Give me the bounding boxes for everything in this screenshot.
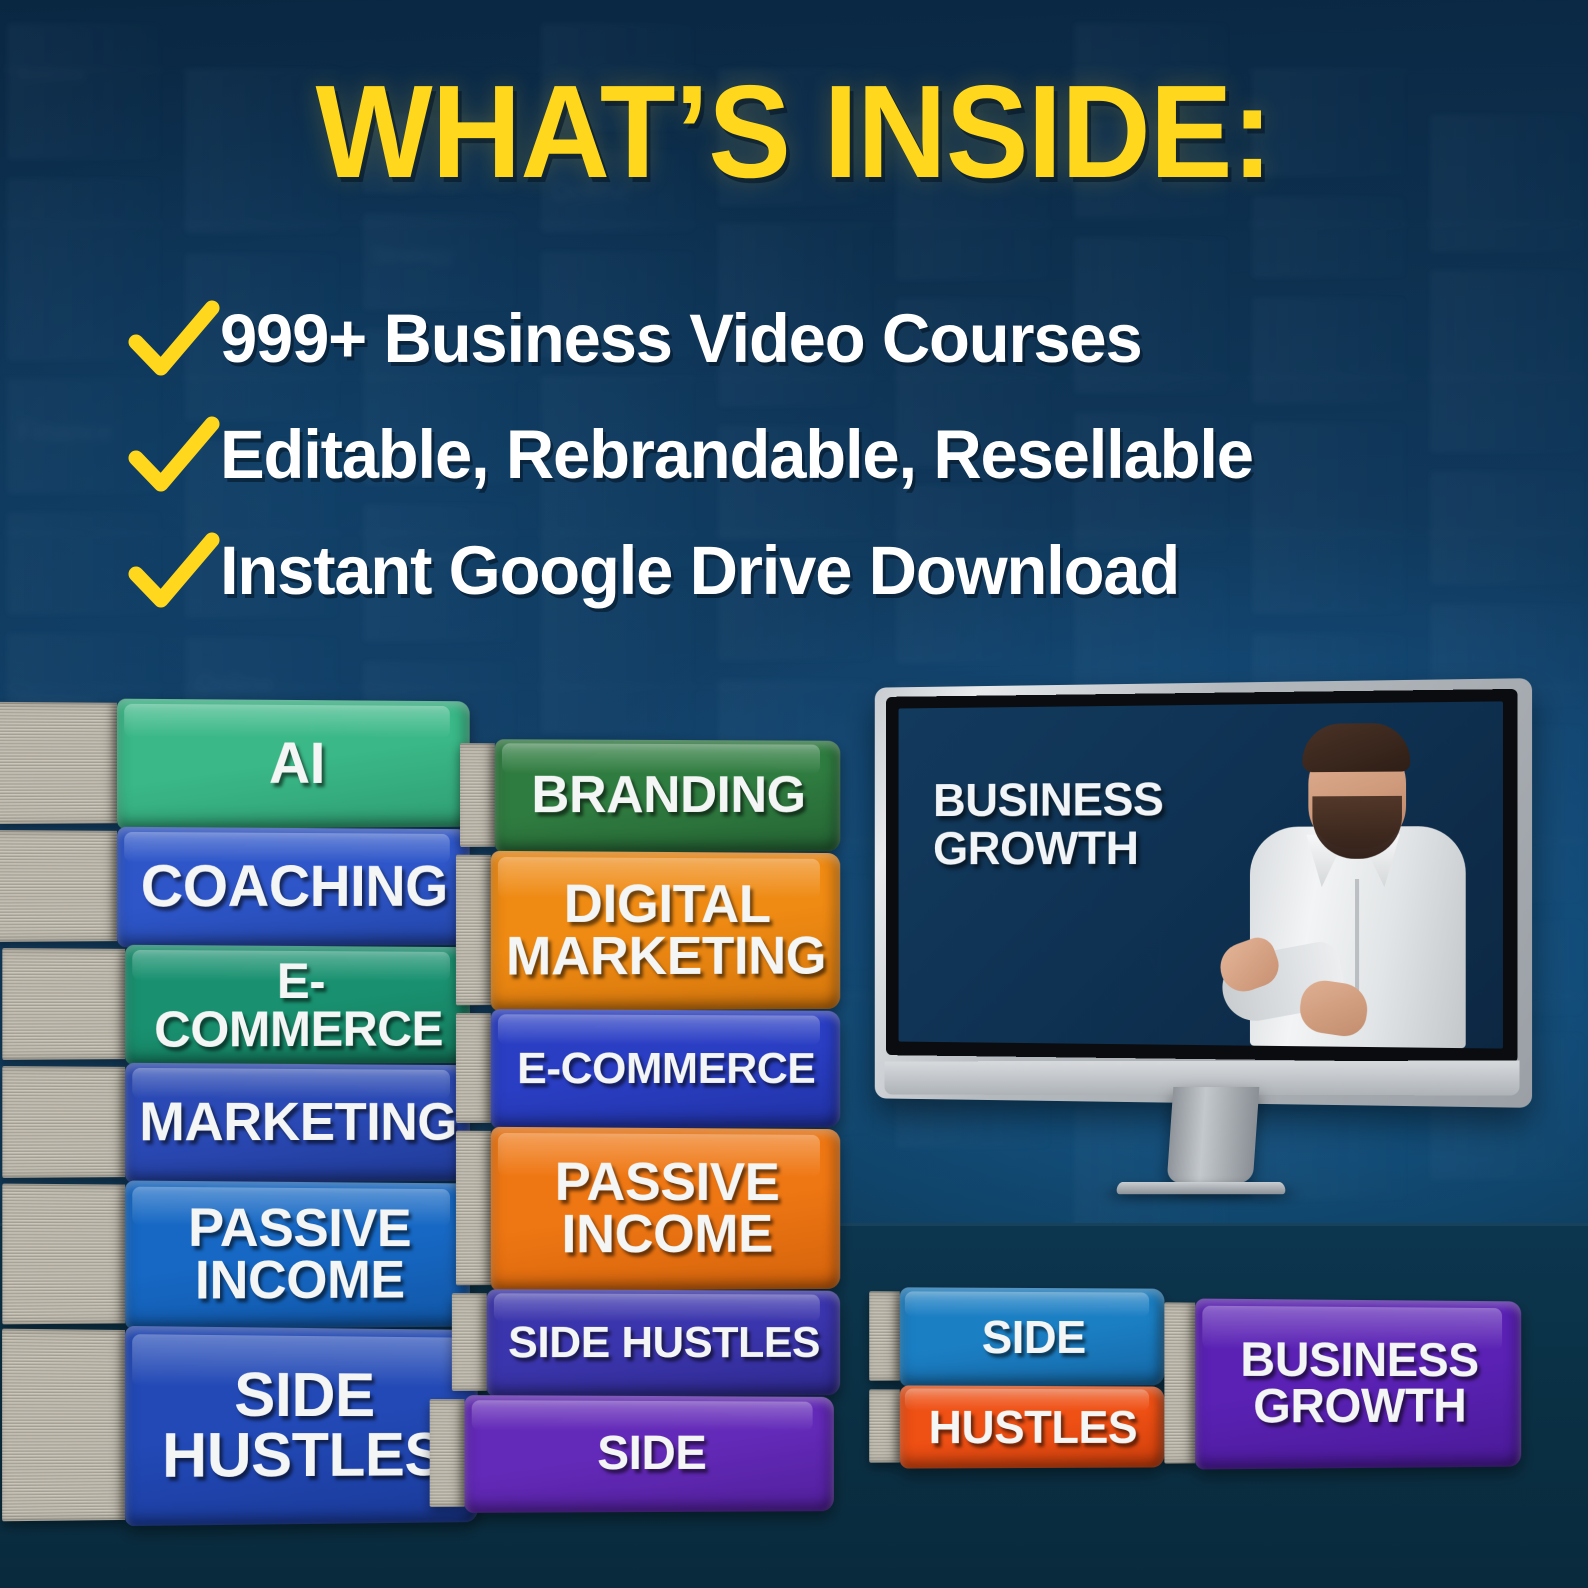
book-page-edge (456, 1013, 491, 1123)
check-icon (128, 292, 220, 384)
book-passive-income: PASSIVE INCOME (491, 1127, 840, 1291)
page-title: WHAT’S INSIDE: (316, 66, 1272, 198)
book-passive-income: PASSIVE INCOME (125, 1180, 470, 1329)
check-icon (128, 524, 220, 616)
check-icon (128, 408, 220, 500)
book-side: SIDE (900, 1287, 1165, 1386)
book-side: SIDE (465, 1395, 834, 1513)
feature-list: 999+ Business Video Courses Editable, Re… (128, 280, 1518, 628)
book-side-hustles: SIDE HUSTLES (487, 1289, 840, 1397)
list-item: Editable, Rebrandable, Resellable (128, 396, 1518, 512)
book-title: SIDE HUSTLES (498, 1322, 830, 1365)
backdrop-text: Strategy (373, 244, 453, 268)
book-e-commerce: E-COMMERCE (491, 1009, 840, 1129)
book-title: BUSINESS GROWTH (1230, 1337, 1488, 1430)
book-marketing: MARKETING (125, 1063, 470, 1183)
list-item: Instant Google Drive Download (128, 512, 1518, 628)
book-page-edge (869, 1291, 900, 1381)
book-page-edge (430, 1399, 465, 1507)
book-title: AI (259, 736, 335, 792)
book-page-edge (460, 743, 495, 847)
book-page-edge (869, 1389, 900, 1462)
poster-canvas: BusinessFinanceStrategySales CourseSucce… (0, 0, 1588, 1588)
book-title: SIDE HUSTLES (152, 1365, 453, 1486)
book-page-edge (1164, 1302, 1195, 1463)
monitor: BUSINESS GROWTH (866, 683, 1526, 1103)
book-title: E-COMMERCE (507, 1048, 825, 1091)
book-title: SIDE (972, 1315, 1096, 1359)
book-side-hustles: SIDE HUSTLES (125, 1326, 478, 1526)
book-title: DIGITAL MARKETING (496, 878, 836, 983)
monitor-stand-neck (1166, 1087, 1259, 1183)
list-item-label: Instant Google Drive Download (220, 536, 1179, 605)
book-hustles: HUSTLES (900, 1385, 1165, 1468)
backdrop-text: Online (195, 668, 273, 699)
backdrop-text: Finance (17, 416, 112, 447)
book-ai: AI (117, 699, 470, 830)
presenter-hair (1302, 723, 1410, 772)
book-page-edge (2, 948, 125, 1060)
book-coaching: COACHING (117, 827, 470, 947)
presenter-figure (1222, 712, 1497, 1049)
list-item-label: Editable, Rebrandable, Resellable (220, 420, 1253, 489)
monitor-frame: BUSINESS GROWTH (886, 689, 1517, 1063)
book-digital-marketing: DIGITAL MARKETING (491, 851, 840, 1011)
book-page-edge (2, 1184, 125, 1325)
book-branding: BRANDING (495, 739, 840, 853)
book-e-commerce: E-COMMERCE (125, 945, 470, 1065)
monitor-stand-base (1115, 1182, 1286, 1194)
shelf-divider (0, 223, 1588, 225)
book-title: PASSIVE INCOME (544, 1157, 789, 1262)
book-title: COACHING (130, 859, 457, 916)
book-title: PASSIVE INCOME (178, 1202, 421, 1307)
backdrop-book (1252, 196, 1406, 279)
book-page-edge (452, 1293, 487, 1391)
book-page-edge (2, 1329, 125, 1522)
book-title: SIDE (587, 1431, 716, 1477)
book-page-edge (0, 702, 117, 824)
book-page-edge (456, 1131, 491, 1286)
screen-title: BUSINESS GROWTH (933, 775, 1163, 873)
book-title: E-COMMERCE (125, 956, 470, 1054)
list-item-label: 999+ Business Video Courses (220, 304, 1142, 373)
book-title: MARKETING (129, 1097, 466, 1150)
monitor-screen: BUSINESS GROWTH (899, 701, 1503, 1048)
book-business-growth: BUSINESS GROWTH (1195, 1299, 1521, 1470)
book-page-edge (0, 830, 117, 942)
list-item: 999+ Business Video Courses (128, 280, 1518, 396)
book-title: HUSTLES (918, 1405, 1146, 1450)
book-page-edge (456, 855, 491, 1006)
book-title: BRANDING (521, 771, 815, 822)
book-page-edge (2, 1066, 125, 1178)
headline-block: WHAT’S INSIDE: (0, 66, 1588, 198)
